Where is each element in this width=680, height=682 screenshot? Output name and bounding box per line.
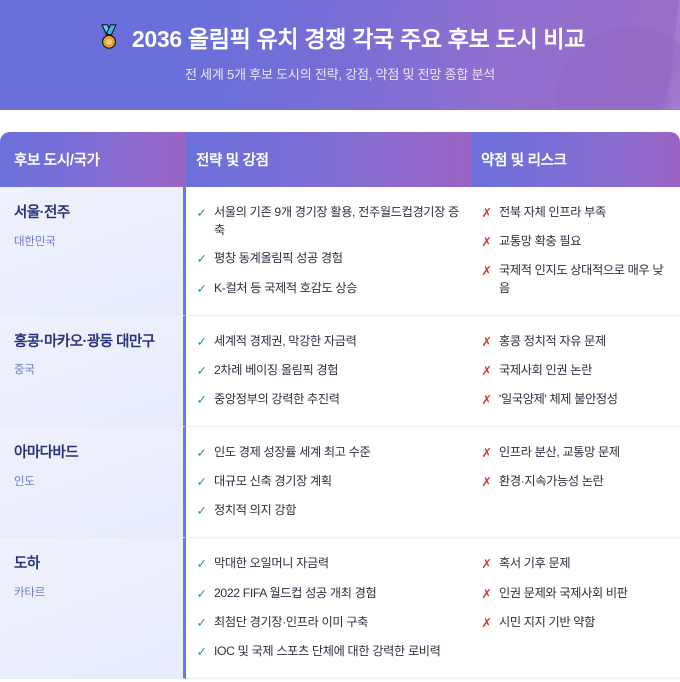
risk-list: ✗인프라 분산, 교통망 문제✗환경·지속가능성 논란 xyxy=(481,444,668,491)
strength-item: ✓정치적 의지 강함 xyxy=(196,502,459,520)
city-name: 서울·전주 xyxy=(14,204,175,223)
risk-list: ✗홍콩 정치적 자유 문제✗국제사회 인권 논란✗'일국양제' 체제 불안정성 xyxy=(481,333,668,409)
check-icon: ✓ xyxy=(196,391,207,409)
item-text: 2차례 베이징 올림픽 경험 xyxy=(214,362,459,380)
column-header-city[interactable]: 후보 도시/국가 xyxy=(0,132,186,187)
item-text: 중앙정부의 강력한 추진력 xyxy=(214,391,459,409)
strength-item: ✓서울의 기존 9개 경기장 활용, 전주월드컵경기장 증축 xyxy=(196,204,459,239)
risk-item: ✗국제적 인지도 상대적으로 매우 낮음 xyxy=(481,262,668,297)
candidate-city-comparison-table: 후보 도시/국가 전략 및 강점 약점 및 리스크 서울·전주대한민국✓서울의 … xyxy=(0,132,680,679)
item-text: 정치적 의지 강함 xyxy=(214,502,459,520)
strength-item: ✓2차례 베이징 올림픽 경험 xyxy=(196,362,459,380)
item-text: 인프라 분산, 교통망 문제 xyxy=(499,444,668,462)
city-cell: 홍콩·마카오·광둥 대만구중국 xyxy=(0,316,186,427)
item-text: 인권 문제와 국제사회 비판 xyxy=(499,585,668,603)
item-text: 혹서 기후 문제 xyxy=(499,555,668,573)
item-text: 대규모 신축 경기장 계획 xyxy=(214,473,459,491)
strength-item: ✓막대한 오일머니 자금력 xyxy=(196,555,459,573)
cross-icon: ✗ xyxy=(481,555,492,573)
gold-medal-icon xyxy=(95,23,123,51)
item-text: '일국양제' 체제 불안정성 xyxy=(499,391,668,409)
strength-item: ✓2022 FIFA 월드컵 성공 개최 경험 xyxy=(196,585,459,603)
risk-list: ✗혹서 기후 문제✗인권 문제와 국제사회 비판✗시민 지지 기반 약함 xyxy=(481,555,668,631)
check-icon: ✓ xyxy=(196,643,207,661)
item-text: 서울의 기존 9개 경기장 활용, 전주월드컵경기장 증축 xyxy=(214,204,459,239)
item-text: 국제사회 인권 논란 xyxy=(499,362,668,380)
risk-list: ✗전북 자체 인프라 부족✗교통망 확충 필요✗국제적 인지도 상대적으로 매우… xyxy=(481,204,668,298)
item-text: 평창 동계올림픽 성공 경험 xyxy=(214,250,459,268)
check-icon: ✓ xyxy=(196,250,207,268)
check-icon: ✓ xyxy=(196,473,207,491)
check-icon: ✓ xyxy=(196,204,207,222)
page-banner: 2036 올림픽 유치 경쟁 각국 주요 후보 도시 비교 전 세계 5개 후보… xyxy=(0,0,680,110)
risk-item: ✗시민 지지 기반 약함 xyxy=(481,614,668,632)
check-icon: ✓ xyxy=(196,444,207,462)
column-header-risks[interactable]: 약점 및 리스크 xyxy=(471,132,680,187)
strength-item: ✓중앙정부의 강력한 추진력 xyxy=(196,391,459,409)
table-row[interactable]: 아마다바드인도✓인도 경제 성장률 세계 최고 수준✓대규모 신축 경기장 계획… xyxy=(0,427,680,538)
cross-icon: ✗ xyxy=(481,444,492,462)
strength-item: ✓대규모 신축 경기장 계획 xyxy=(196,473,459,491)
table-header-row: 후보 도시/국가 전략 및 강점 약점 및 리스크 xyxy=(0,132,680,187)
strength-list: ✓인도 경제 성장률 세계 최고 수준✓대규모 신축 경기장 계획✓정치적 의지… xyxy=(196,444,459,520)
item-text: 교통망 확충 필요 xyxy=(499,233,668,251)
risk-item: ✗교통망 확충 필요 xyxy=(481,233,668,251)
strength-list: ✓세계적 경제권, 막강한 자금력✓2차례 베이징 올림픽 경험✓중앙정부의 강… xyxy=(196,333,459,409)
check-icon: ✓ xyxy=(196,585,207,603)
city-name: 홍콩·마카오·광둥 대만구 xyxy=(14,333,175,352)
comparison-table-wrap: 후보 도시/국가 전략 및 강점 약점 및 리스크 서울·전주대한민국✓서울의 … xyxy=(0,110,680,679)
cross-icon: ✗ xyxy=(481,362,492,380)
city-cell: 서울·전주대한민국 xyxy=(0,187,186,316)
risks-cell: ✗홍콩 정치적 자유 문제✗국제사회 인권 논란✗'일국양제' 체제 불안정성 xyxy=(471,316,680,427)
cross-icon: ✗ xyxy=(481,333,492,351)
item-text: 홍콩 정치적 자유 문제 xyxy=(499,333,668,351)
risk-item: ✗환경·지속가능성 논란 xyxy=(481,473,668,491)
risk-item: ✗전북 자체 인프라 부족 xyxy=(481,204,668,222)
city-country: 대한민국 xyxy=(14,233,175,249)
cross-icon: ✗ xyxy=(481,614,492,632)
strengths-cell: ✓서울의 기존 9개 경기장 활용, 전주월드컵경기장 증축✓평창 동계올림픽 … xyxy=(186,187,471,316)
item-text: 전북 자체 인프라 부족 xyxy=(499,204,668,222)
risks-cell: ✗인프라 분산, 교통망 문제✗환경·지속가능성 논란 xyxy=(471,427,680,538)
column-header-strengths[interactable]: 전략 및 강점 xyxy=(186,132,471,187)
strengths-cell: ✓세계적 경제권, 막강한 자금력✓2차례 베이징 올림픽 경험✓중앙정부의 강… xyxy=(186,316,471,427)
risks-cell: ✗전북 자체 인프라 부족✗교통망 확충 필요✗국제적 인지도 상대적으로 매우… xyxy=(471,187,680,316)
banner-title-row: 2036 올림픽 유치 경쟁 각국 주요 후보 도시 비교 xyxy=(95,20,585,54)
strength-list: ✓서울의 기존 9개 경기장 활용, 전주월드컵경기장 증축✓평창 동계올림픽 … xyxy=(196,204,459,298)
strength-item: ✓인도 경제 성장률 세계 최고 수준 xyxy=(196,444,459,462)
risk-item: ✗'일국양제' 체제 불안정성 xyxy=(481,391,668,409)
risks-cell: ✗혹서 기후 문제✗인권 문제와 국제사회 비판✗시민 지지 기반 약함 xyxy=(471,538,680,679)
check-icon: ✓ xyxy=(196,502,207,520)
check-icon: ✓ xyxy=(196,555,207,573)
check-icon: ✓ xyxy=(196,362,207,380)
strength-item: ✓세계적 경제권, 막강한 자금력 xyxy=(196,333,459,351)
table-row[interactable]: 서울·전주대한민국✓서울의 기존 9개 경기장 활용, 전주월드컵경기장 증축✓… xyxy=(0,187,680,316)
page-subtitle: 전 세계 5개 후보 도시의 전략, 강점, 약점 및 전망 종합 분석 xyxy=(185,64,495,83)
city-country: 인도 xyxy=(14,473,175,489)
item-text: 인도 경제 성장률 세계 최고 수준 xyxy=(214,444,459,462)
risk-item: ✗국제사회 인권 논란 xyxy=(481,362,668,380)
cross-icon: ✗ xyxy=(481,585,492,603)
strength-list: ✓막대한 오일머니 자금력✓2022 FIFA 월드컵 성공 개최 경험✓최첨단… xyxy=(196,555,459,661)
risk-item: ✗혹서 기후 문제 xyxy=(481,555,668,573)
cross-icon: ✗ xyxy=(481,473,492,491)
strength-item: ✓IOC 및 국제 스포츠 단체에 대한 강력한 로비력 xyxy=(196,643,459,661)
item-text: 국제적 인지도 상대적으로 매우 낮음 xyxy=(499,262,668,297)
item-text: 막대한 오일머니 자금력 xyxy=(214,555,459,573)
cross-icon: ✗ xyxy=(481,233,492,251)
cross-icon: ✗ xyxy=(481,204,492,222)
risk-item: ✗인권 문제와 국제사회 비판 xyxy=(481,585,668,603)
city-country: 카타르 xyxy=(14,584,175,600)
strengths-cell: ✓인도 경제 성장률 세계 최고 수준✓대규모 신축 경기장 계획✓정치적 의지… xyxy=(186,427,471,538)
item-text: 시민 지지 기반 약함 xyxy=(499,614,668,632)
strengths-cell: ✓막대한 오일머니 자금력✓2022 FIFA 월드컵 성공 개최 경험✓최첨단… xyxy=(186,538,471,679)
strength-item: ✓최첨단 경기장·인프라 이미 구축 xyxy=(196,614,459,632)
risk-item: ✗인프라 분산, 교통망 문제 xyxy=(481,444,668,462)
item-text: 환경·지속가능성 논란 xyxy=(499,473,668,491)
check-icon: ✓ xyxy=(196,614,207,632)
table-header: 후보 도시/국가 전략 및 강점 약점 및 리스크 xyxy=(0,132,680,187)
table-row[interactable]: 홍콩·마카오·광둥 대만구중국✓세계적 경제권, 막강한 자금력✓2차례 베이징… xyxy=(0,316,680,427)
strength-item: ✓평창 동계올림픽 성공 경험 xyxy=(196,250,459,268)
risk-item: ✗홍콩 정치적 자유 문제 xyxy=(481,333,668,351)
city-name: 도하 xyxy=(14,555,175,574)
city-cell: 아마다바드인도 xyxy=(0,427,186,538)
table-row[interactable]: 도하카타르✓막대한 오일머니 자금력✓2022 FIFA 월드컵 성공 개최 경… xyxy=(0,538,680,679)
item-text: K-컬처 등 국제적 호감도 상승 xyxy=(214,280,459,298)
item-text: IOC 및 국제 스포츠 단체에 대한 강력한 로비력 xyxy=(214,643,459,661)
city-cell: 도하카타르 xyxy=(0,538,186,679)
cross-icon: ✗ xyxy=(481,262,492,280)
page-title: 2036 올림픽 유치 경쟁 각국 주요 후보 도시 비교 xyxy=(132,20,585,54)
item-text: 2022 FIFA 월드컵 성공 개최 경험 xyxy=(214,585,459,603)
check-icon: ✓ xyxy=(196,280,207,298)
cross-icon: ✗ xyxy=(481,391,492,409)
item-text: 최첨단 경기장·인프라 이미 구축 xyxy=(214,614,459,632)
table-body: 서울·전주대한민국✓서울의 기존 9개 경기장 활용, 전주월드컵경기장 증축✓… xyxy=(0,187,680,679)
strength-item: ✓K-컬처 등 국제적 호감도 상승 xyxy=(196,280,459,298)
item-text: 세계적 경제권, 막강한 자금력 xyxy=(214,333,459,351)
city-name: 아마다바드 xyxy=(14,444,175,463)
check-icon: ✓ xyxy=(196,333,207,351)
city-country: 중국 xyxy=(14,361,175,377)
